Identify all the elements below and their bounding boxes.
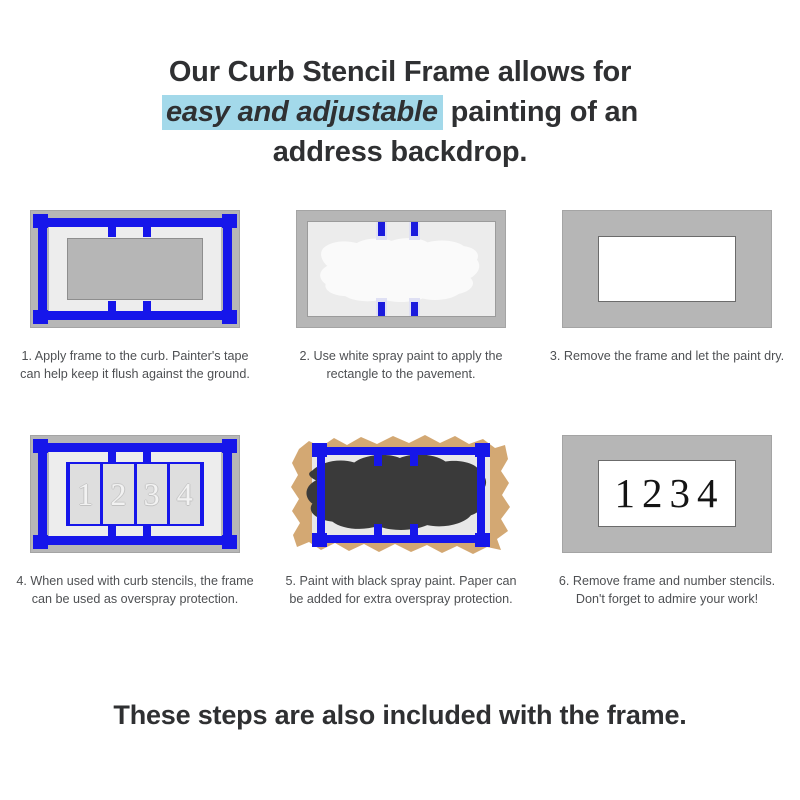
frame-clip-top-1 <box>378 221 385 236</box>
step-item-5: 5. Paint with black spray paint. Paper c… <box>268 435 534 608</box>
footer-note: These steps are also included with the f… <box>40 700 760 731</box>
black-spray-paint-illustration <box>287 431 515 559</box>
frame-bar-bottom <box>36 311 234 320</box>
frame-corner-top-left <box>33 439 48 453</box>
black-spray-blob-icon <box>305 449 487 539</box>
finished-address-plate: 1 2 3 4 <box>598 460 737 527</box>
steps-grid: 1. Apply frame to the curb. Painter's ta… <box>0 210 800 675</box>
frame-clip-top-2 <box>143 444 151 462</box>
number-stencil-band: 1 2 3 4 <box>66 462 205 526</box>
step-item-3: 3. Remove the frame and let the paint dr… <box>534 210 800 366</box>
frame-corner-top-right <box>222 439 237 453</box>
step-item-2: 2. Use white spray paint to apply the re… <box>268 210 534 383</box>
headline-line-1: Our Curb Stencil Frame allows for <box>60 52 740 92</box>
frame-corner-bottom-left <box>312 533 327 547</box>
step-6-art-wrap: 1 2 3 4 <box>534 435 800 565</box>
step-1-caption: 1. Apply frame to the curb. Painter's ta… <box>2 348 268 383</box>
white-spray-paint-illustration <box>296 210 506 328</box>
stencil-digit-1: 1 <box>70 464 100 524</box>
address-digit-2: 2 <box>642 473 665 514</box>
frame-clip-top-2 <box>411 221 418 236</box>
headline-line-2-rest: painting of an <box>443 96 638 128</box>
step-2-art-wrap <box>268 210 534 340</box>
frame-clip-top-2 <box>143 219 151 237</box>
stencil-digit-2: 2 <box>103 464 133 524</box>
frame-bar-top <box>36 443 234 452</box>
frame-clip-bottom-1 <box>374 524 382 542</box>
frame-corner-bottom-left <box>33 310 48 324</box>
frame-corner-bottom-left <box>33 535 48 549</box>
step-5-art-wrap <box>268 435 534 565</box>
curb-core-rect <box>67 238 204 299</box>
step-4-art-wrap: 1 2 3 4 <box>2 435 268 565</box>
frame-corner-top-left <box>312 443 327 457</box>
sprayed-plate <box>307 221 496 318</box>
frame-bar-left <box>317 445 325 545</box>
step-item-6: 1 2 3 4 6. Remove frame and number stenc… <box>534 435 800 608</box>
frame-bar-right <box>223 216 232 322</box>
step-6-caption: 6. Remove frame and number stencils. Don… <box>534 573 800 608</box>
step-3-art-wrap <box>534 210 800 340</box>
frame-clip-bottom-2 <box>143 526 151 544</box>
finished-address-illustration: 1 2 3 4 <box>562 435 772 553</box>
frame-clip-bottom-1 <box>108 526 116 544</box>
frame-clip-bottom-2 <box>410 524 418 542</box>
frame-with-number-stencils-illustration: 1 2 3 4 <box>30 435 240 553</box>
frame-bar-right <box>477 445 485 545</box>
frame-bar-bottom <box>315 535 487 543</box>
frame-clip-top-2 <box>410 448 418 466</box>
step-item-4: 1 2 3 4 4. When used with curb stenci <box>2 435 268 608</box>
step-3-caption: 3. Remove the frame and let the paint dr… <box>534 348 800 366</box>
white-spray-blob-icon <box>319 231 484 307</box>
painted-rectangle-illustration <box>562 210 772 328</box>
painted-white-rectangle <box>598 236 737 302</box>
frame-bar-left <box>38 441 47 547</box>
frame-corner-bottom-right <box>222 535 237 549</box>
address-digit-4: 4 <box>697 473 720 514</box>
frame-clip-bottom-1 <box>378 302 385 317</box>
address-digit-3: 3 <box>669 473 692 514</box>
frame-corner-top-right <box>222 214 237 228</box>
headline-line-3: address backdrop. <box>60 132 740 172</box>
step-1-art-wrap <box>2 210 268 340</box>
frame-on-curb-illustration <box>30 210 240 328</box>
stencil-digit-3: 3 <box>137 464 167 524</box>
frame-clip-bottom-2 <box>143 301 151 319</box>
stencil-digit-4: 4 <box>170 464 200 524</box>
step-2-caption: 2. Use white spray paint to apply the re… <box>268 348 534 383</box>
frame-corner-bottom-right <box>222 310 237 324</box>
step-5-caption: 5. Paint with black spray paint. Paper c… <box>268 573 534 608</box>
step-4-caption: 4. When used with curb stencils, the fra… <box>2 573 268 608</box>
frame-clip-bottom-1 <box>108 301 116 319</box>
frame-clip-top-1 <box>108 219 116 237</box>
frame-bar-left <box>38 216 47 322</box>
frame-clip-top-1 <box>374 448 382 466</box>
page-title: Our Curb Stencil Frame allows for easy a… <box>60 52 740 172</box>
frame-corner-top-left <box>33 214 48 228</box>
frame-bar-top <box>315 447 487 455</box>
frame-corner-bottom-right <box>475 533 490 547</box>
frame-bar-bottom <box>36 536 234 545</box>
step-item-1: 1. Apply frame to the curb. Painter's ta… <box>2 210 268 383</box>
headline-line-2: easy and adjustable painting of an <box>60 92 740 132</box>
address-digit-1: 1 <box>614 473 637 514</box>
headline-emphasis: easy and adjustable <box>162 95 443 130</box>
frame-bar-top <box>36 218 234 227</box>
frame-clip-top-1 <box>108 444 116 462</box>
frame-corner-top-right <box>475 443 490 457</box>
frame-clip-bottom-2 <box>411 302 418 317</box>
frame-bar-right <box>223 441 232 547</box>
